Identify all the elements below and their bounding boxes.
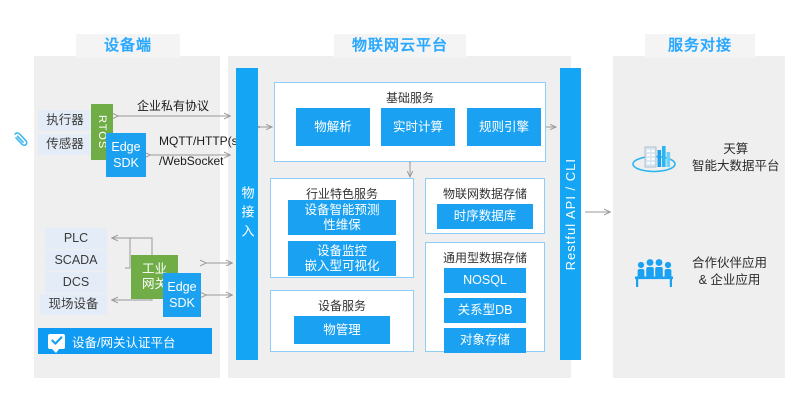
device-plc[interactable]: PLC — [45, 228, 107, 249]
edge-sdk-line1: Edge — [111, 139, 140, 155]
device-dcs[interactable]: DCS — [45, 272, 107, 293]
label-mqtt-http: MQTT/HTTP(s) — [159, 134, 242, 148]
label-private-protocol: 企业私有协议 — [137, 97, 209, 114]
chip-nosql[interactable]: NOSQL — [444, 268, 526, 293]
panel-title-cloud: 物联网云平台 — [334, 34, 466, 58]
iot-access-label: 物接入 — [238, 186, 257, 243]
card-basic-service-title: 基础服务 — [275, 89, 545, 106]
device-actuator[interactable]: 执行器 — [38, 110, 92, 131]
device-field-device[interactable]: 现场设备 — [40, 294, 107, 315]
chip-predict-line1: 设备智能预测 — [304, 203, 379, 217]
edge-sdk-gateway-block[interactable]: Edge SDK — [163, 273, 201, 317]
chip-object-storage[interactable]: 对象存储 — [444, 328, 526, 353]
chip-rule-engine[interactable]: 规则引擎 — [467, 108, 541, 146]
gateway-edge-line1: Edge — [167, 279, 196, 295]
chip-predict-line2: 性维保 — [323, 218, 361, 232]
service-row-partner[interactable]: 合作伙伴应用 & 企业应用 — [630, 252, 767, 292]
panel-title-service: 服务对接 — [645, 34, 755, 58]
bigdata-building-icon — [630, 138, 678, 178]
card-general-storage-title: 通用型数据存储 — [426, 249, 544, 266]
clip-decoration-icon — [8, 126, 34, 157]
service-bigdata-line2: 智能大数据平台 — [692, 159, 780, 173]
chip-thing-parse[interactable]: 物解析 — [296, 108, 370, 146]
cert-platform-label: 设备/网关认证平台 — [72, 332, 175, 351]
chip-monitor-line1: 设备监控 — [317, 244, 367, 258]
panel-title-device: 设备端 — [76, 34, 180, 58]
partners-meeting-icon — [630, 252, 678, 292]
chip-realtime-compute[interactable]: 实时计算 — [381, 108, 455, 146]
restful-api-cli-bar[interactable]: Restful API / CLI — [560, 68, 581, 360]
chip-device-monitor-visualization[interactable]: 设备监控 嵌入型可视化 — [288, 241, 396, 276]
service-bigdata-labels: 天算 智能大数据平台 — [692, 141, 780, 175]
architecture-diagram: 设备端 物联网云平台 服务对接 执行器 传感器 RTOS Edge SDK 企业… — [0, 0, 802, 411]
check-bubble-icon — [48, 334, 65, 349]
chip-timeseries-db[interactable]: 时序数据库 — [437, 204, 533, 229]
cert-platform-bar[interactable]: 设备/网关认证平台 — [38, 328, 212, 354]
service-row-bigdata[interactable]: 天算 智能大数据平台 — [630, 138, 780, 178]
edge-sdk-device-block[interactable]: Edge SDK — [106, 133, 146, 177]
card-device-service-title: 设备服务 — [271, 297, 413, 314]
card-iot-storage-title: 物联网数据存储 — [426, 185, 544, 202]
service-partner-line1: 合作伙伴应用 — [692, 256, 767, 270]
gateway-edge-line2: SDK — [169, 295, 195, 311]
chip-relational-db[interactable]: 关系型DB — [444, 298, 526, 323]
label-websocket: /WebSocket — [159, 154, 223, 168]
edge-sdk-line2: SDK — [113, 155, 139, 171]
device-sensor[interactable]: 传感器 — [38, 134, 92, 155]
chip-monitor-line2: 嵌入型可视化 — [304, 259, 379, 273]
service-bigdata-line1: 天算 — [723, 142, 748, 156]
chip-thing-management[interactable]: 物管理 — [294, 316, 390, 344]
chip-predictive-maintenance[interactable]: 设备智能预测 性维保 — [288, 200, 396, 235]
iot-access-bar[interactable]: 物接入 — [236, 68, 258, 360]
service-partner-line2: & 企业应用 — [699, 273, 761, 287]
restful-api-label: Restful API / CLI — [563, 158, 578, 270]
panel-service-integration — [613, 56, 785, 378]
service-partner-labels: 合作伙伴应用 & 企业应用 — [692, 255, 767, 289]
device-scada[interactable]: SCADA — [45, 250, 107, 271]
